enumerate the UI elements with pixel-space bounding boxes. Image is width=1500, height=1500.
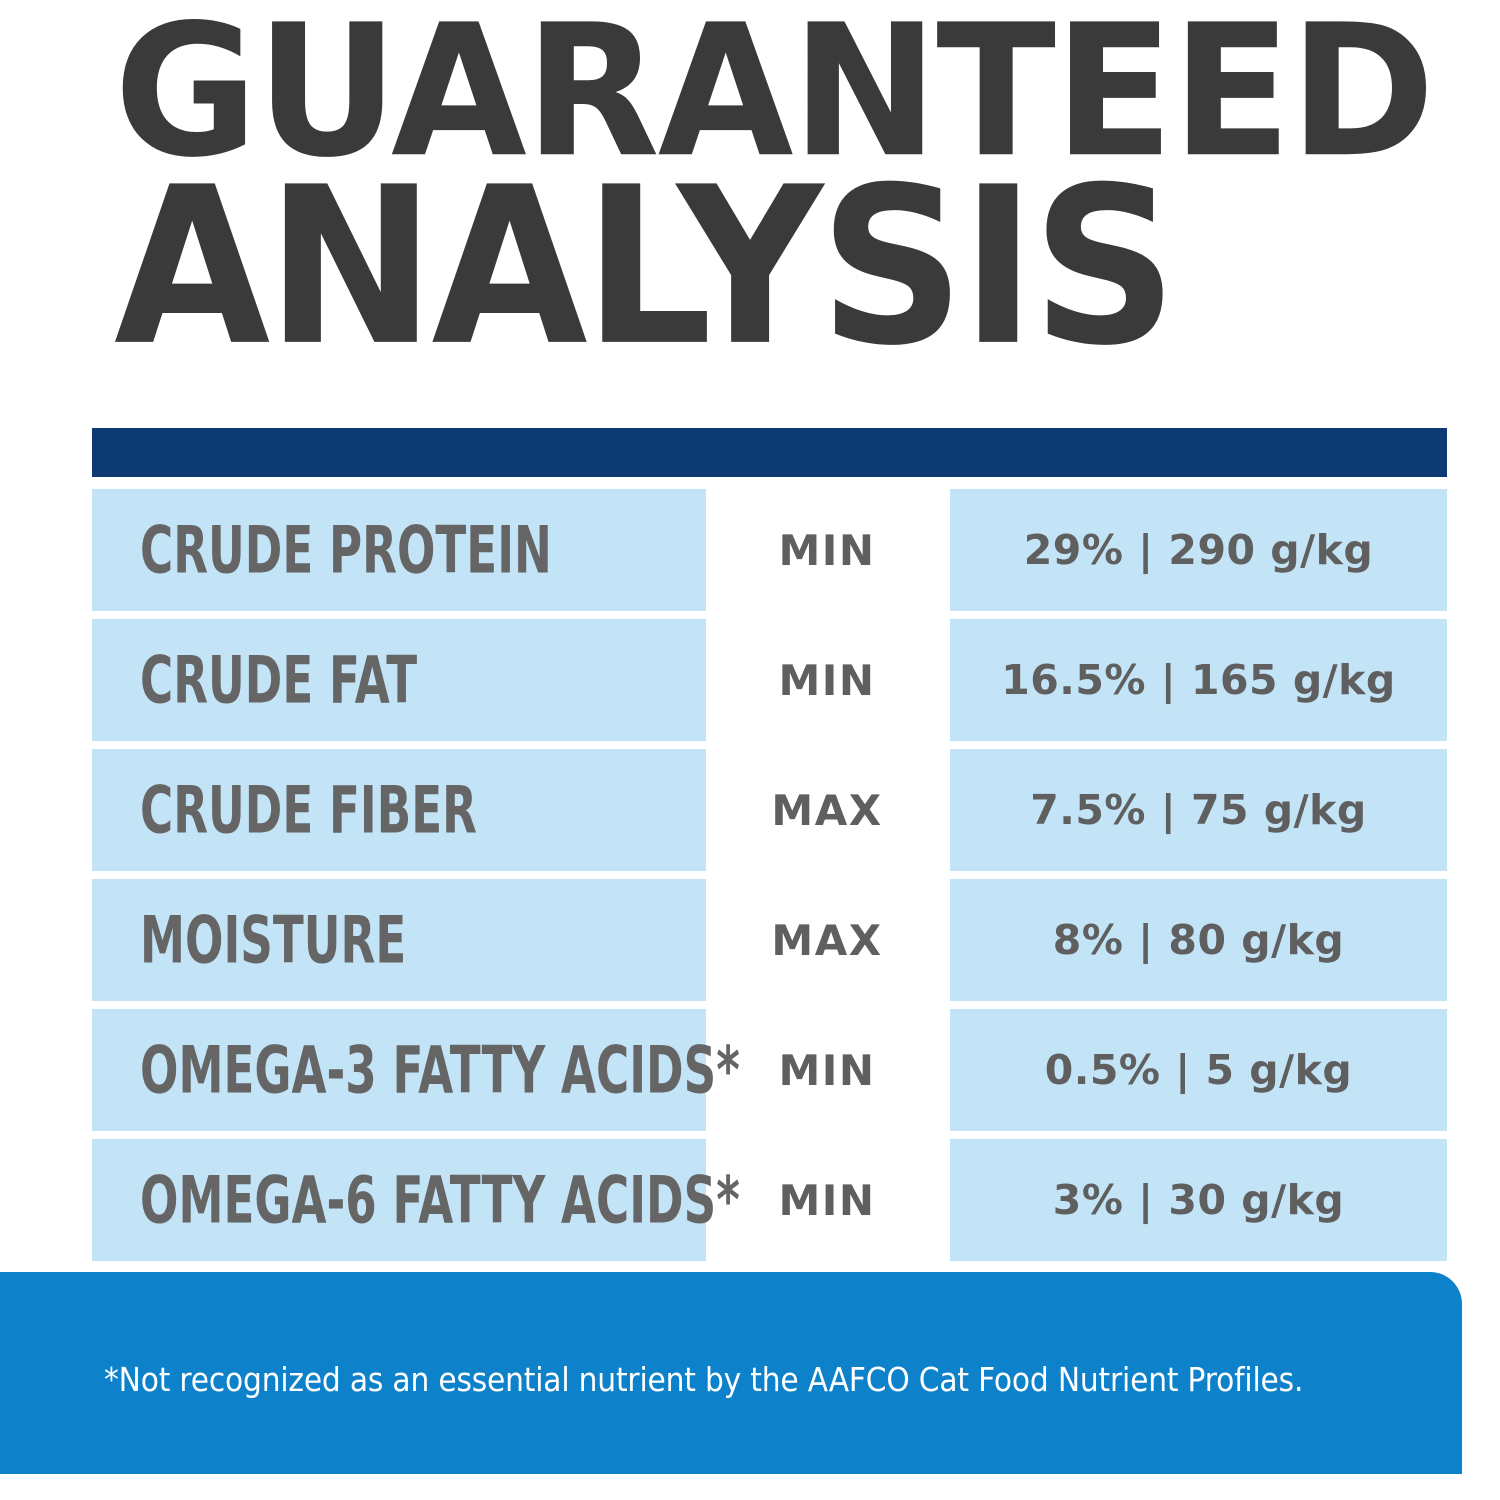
limit-type-label: MAX [771, 916, 882, 965]
nutrient-name-cell: CRUDE PROTEIN [92, 489, 706, 611]
table-row: MOISTURE MAX 8% | 80 g/kg [92, 879, 1447, 1001]
nutrient-name-cell: CRUDE FAT [92, 619, 706, 741]
nutrient-value-label: 29% | 290 g/kg [1024, 526, 1373, 574]
nutrient-value-label: 7.5% | 75 g/kg [1030, 786, 1367, 834]
nutrient-value-cell: 16.5% | 165 g/kg [950, 619, 1447, 741]
limit-type-label: MIN [778, 1046, 875, 1095]
nutrient-value-label: 0.5% | 5 g/kg [1045, 1046, 1352, 1094]
nutrient-name-cell: OMEGA-3 FATTY ACIDS* [92, 1009, 706, 1131]
nutrient-name-label: CRUDE PROTEIN [140, 512, 552, 588]
nutrient-name-label: MOISTURE [140, 902, 406, 978]
nutrient-value-label: 16.5% | 165 g/kg [1001, 656, 1396, 704]
guaranteed-analysis-table: CRUDE PROTEIN MIN 29% | 290 g/kg CRUDE F… [92, 489, 1447, 1269]
limit-type-cell: MAX [712, 879, 942, 1001]
limit-type-label: MIN [778, 1176, 875, 1225]
nutrient-value-cell: 0.5% | 5 g/kg [950, 1009, 1447, 1131]
limit-type-cell: MIN [712, 619, 942, 741]
nutrient-name-label: CRUDE FAT [140, 642, 417, 718]
table-row: OMEGA-6 FATTY ACIDS* MIN 3% | 30 g/kg [92, 1139, 1447, 1261]
nutrient-name-cell: CRUDE FIBER [92, 749, 706, 871]
limit-type-cell: MIN [712, 1139, 942, 1261]
nutrient-value-cell: 3% | 30 g/kg [950, 1139, 1447, 1261]
footnote-text: *Not recognized as an essential nutrient… [104, 1360, 1303, 1399]
limit-type-label: MIN [778, 526, 875, 575]
nutrient-name-cell: MOISTURE [92, 879, 706, 1001]
nutrient-value-cell: 29% | 290 g/kg [950, 489, 1447, 611]
nutrient-name-cell: OMEGA-6 FATTY ACIDS* [92, 1139, 706, 1261]
table-row: OMEGA-3 FATTY ACIDS* MIN 0.5% | 5 g/kg [92, 1009, 1447, 1131]
limit-type-cell: MIN [712, 1009, 942, 1131]
page-title: GUARANTEED ANALYSIS [92, 0, 1447, 400]
nutrient-value-label: 3% | 30 g/kg [1053, 1176, 1344, 1224]
limit-type-label: MIN [778, 656, 875, 705]
nutrient-name-label: OMEGA-3 FATTY ACIDS* [140, 1032, 740, 1108]
page-title-line-2: ANALYSIS [114, 168, 1173, 368]
limit-type-cell: MAX [712, 749, 942, 871]
limit-type-label: MAX [771, 786, 882, 835]
nutrient-value-cell: 8% | 80 g/kg [950, 879, 1447, 1001]
table-row: CRUDE FAT MIN 16.5% | 165 g/kg [92, 619, 1447, 741]
nutrient-name-label: OMEGA-6 FATTY ACIDS* [140, 1162, 740, 1238]
table-row: CRUDE PROTEIN MIN 29% | 290 g/kg [92, 489, 1447, 611]
nutrient-value-label: 8% | 80 g/kg [1053, 916, 1344, 964]
table-header-bar [92, 428, 1447, 477]
nutrient-value-cell: 7.5% | 75 g/kg [950, 749, 1447, 871]
table-row: CRUDE FIBER MAX 7.5% | 75 g/kg [92, 749, 1447, 871]
nutrient-name-label: CRUDE FIBER [140, 772, 477, 848]
footnote-panel: *Not recognized as an essential nutrient… [0, 1272, 1462, 1474]
limit-type-cell: MIN [712, 489, 942, 611]
